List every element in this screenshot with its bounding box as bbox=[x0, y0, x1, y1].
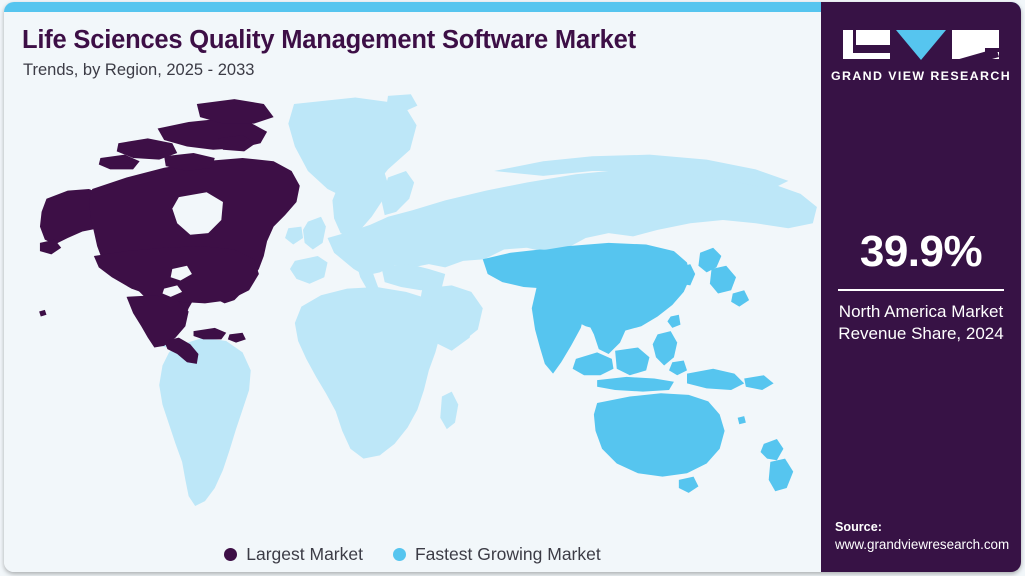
infographic-card: Life Sciences Quality Management Softwar… bbox=[4, 2, 1021, 572]
source-url[interactable]: www.grandviewresearch.com bbox=[835, 536, 1015, 554]
map-region-asia-pacific bbox=[483, 243, 793, 493]
world-map-svg bbox=[4, 90, 821, 520]
legend-item-fastest-growing-market: Fastest Growing Market bbox=[393, 546, 601, 564]
logo-v-triangle-icon bbox=[896, 30, 946, 60]
infographic-root: Life Sciences Quality Management Softwar… bbox=[0, 0, 1025, 576]
brand-logo: GRAND VIEW RESEARCH bbox=[821, 30, 1021, 83]
logo-g-icon bbox=[843, 30, 890, 59]
side-panel: GRAND VIEW RESEARCH 39.9% North America … bbox=[821, 2, 1021, 572]
legend-label: Largest Market bbox=[246, 546, 363, 564]
legend-label: Fastest Growing Market bbox=[415, 546, 601, 564]
stat-caption-line2: Revenue Share, 2024 bbox=[821, 323, 1021, 346]
legend: Largest Market Fastest Growing Market bbox=[4, 546, 821, 564]
stat-caption-line1: North America Market bbox=[821, 301, 1021, 324]
world-map bbox=[4, 90, 821, 520]
stat-divider bbox=[838, 289, 1004, 291]
legend-dot-icon bbox=[393, 548, 406, 561]
map-region-north-america bbox=[39, 99, 300, 364]
source-label: Source: bbox=[835, 518, 1015, 536]
page-title: Life Sciences Quality Management Softwar… bbox=[22, 26, 636, 54]
logo-r-icon bbox=[952, 30, 999, 59]
logo-marks bbox=[843, 30, 999, 60]
map-area: Life Sciences Quality Management Softwar… bbox=[4, 12, 821, 572]
stat-value: 39.9% bbox=[821, 230, 1021, 274]
legend-item-largest-market: Largest Market bbox=[224, 546, 363, 564]
logo-wordmark: GRAND VIEW RESEARCH bbox=[831, 69, 1011, 83]
title-block: Life Sciences Quality Management Softwar… bbox=[22, 26, 636, 79]
page-subtitle: Trends, by Region, 2025 - 2033 bbox=[23, 61, 636, 79]
source-block: Source: www.grandviewresearch.com bbox=[835, 518, 1015, 554]
legend-dot-icon bbox=[224, 548, 237, 561]
stat-block: 39.9% North America Market Revenue Share… bbox=[821, 230, 1021, 346]
